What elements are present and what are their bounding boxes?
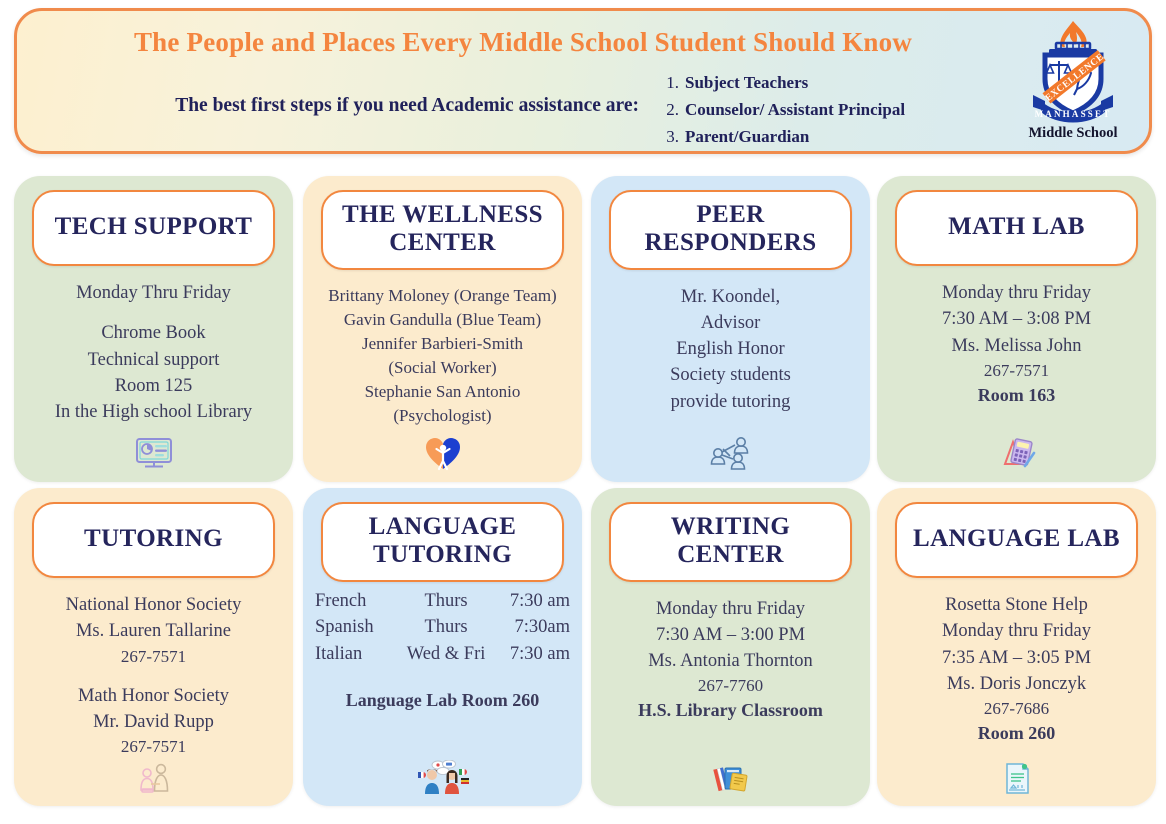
card-tutoring[interactable]: TUTORING National Honor Society Ms. Laur… — [14, 488, 293, 806]
card-footer: Language Lab Room 260 — [313, 688, 572, 714]
card-line: Monday thru Friday — [601, 596, 860, 622]
card-line: 267-7686 — [887, 697, 1146, 721]
svg-text:MANHASSET: MANHASSET — [1035, 109, 1112, 119]
header-lead-text: The best first steps if you need Academi… — [69, 95, 639, 117]
card-line: Brittany Moloney (Orange Team) — [313, 284, 572, 308]
lang-day: Wed & Fri — [400, 641, 491, 668]
page-title: The People and Places Every Middle Schoo… — [17, 27, 1149, 58]
speaking-people-icon — [303, 760, 582, 798]
card-line: National Honor Society — [24, 592, 283, 618]
card-title: THE WELLNESS CENTER — [321, 190, 564, 270]
card-line: Advisor — [601, 310, 860, 336]
card-body: National Honor Society Ms. Lauren Tallar… — [24, 592, 283, 759]
card-language-tutoring[interactable]: LANGUAGE TUTORING French Thurs 7:30 am S… — [303, 488, 582, 806]
step-number: 2. — [657, 100, 679, 120]
tutor-pair-icon — [14, 760, 293, 798]
card-line: Chrome Book — [24, 320, 283, 346]
card-body: Monday thru Friday 7:30 AM – 3:08 PM Ms.… — [887, 280, 1146, 408]
card-body: Monday thru Friday 7:30 AM – 3:00 PM Ms.… — [601, 596, 860, 724]
card-line: Technical support — [24, 347, 283, 373]
language-schedule-table: French Thurs 7:30 am Spanish Thurs 7:30a… — [313, 588, 572, 668]
monitor-chart-icon — [14, 436, 293, 474]
manhasset-shield-icon: EXCELLENCE MANHASSET — [1021, 17, 1125, 129]
card-line: Society students — [601, 362, 860, 388]
lang-time: 7:30 am — [492, 641, 572, 668]
card-title: PEER RESPONDERS — [609, 190, 852, 270]
card-math-lab[interactable]: MATH LAB Monday thru Friday 7:30 AM – 3:… — [877, 176, 1156, 482]
header-banner: The People and Places Every Middle Schoo… — [14, 8, 1152, 154]
card-language-lab[interactable]: LANGUAGE LAB Rosetta Stone Help Monday t… — [877, 488, 1156, 806]
card-room-label: H.S. Library Classroom — [601, 698, 860, 724]
poster-page: The People and Places Every Middle Schoo… — [0, 0, 1166, 824]
header-step-item: 2.Counselor/ Assistant Principal — [657, 100, 987, 120]
books-icon — [591, 760, 870, 798]
step-number: 1. — [657, 73, 679, 93]
card-line: (Social Worker) — [313, 356, 572, 380]
card-line: Stephanie San Antonio — [313, 380, 572, 404]
card-writing-center[interactable]: WRITING CENTER Monday thru Friday 7:30 A… — [591, 488, 870, 806]
card-title: MATH LAB — [895, 190, 1138, 266]
table-row: French Thurs 7:30 am — [313, 588, 572, 615]
lang-time: 7:30 am — [492, 588, 572, 615]
card-line: Monday Thru Friday — [24, 280, 283, 306]
card-wellness-center[interactable]: THE WELLNESS CENTER Brittany Moloney (Or… — [303, 176, 582, 482]
card-line: provide tutoring — [601, 389, 860, 415]
card-line: Ms. Lauren Tallarine — [24, 618, 283, 644]
lang-time: 7:30am — [492, 614, 572, 641]
card-line: 267-7571 — [887, 359, 1146, 383]
people-network-icon — [591, 436, 870, 474]
card-room-label: Room 163 — [887, 383, 1146, 409]
card-line: In the High school Library — [24, 399, 283, 425]
card-line: Room 125 — [24, 373, 283, 399]
step-number: 3. — [657, 127, 679, 147]
card-line: 267-7571 — [24, 645, 283, 669]
card-title: LANGUAGE LAB — [895, 502, 1138, 578]
card-peer-responders[interactable]: PEER RESPONDERS Mr. Koondel, Advisor Eng… — [591, 176, 870, 482]
heart-person-icon — [303, 436, 582, 474]
card-line: 7:30 AM – 3:08 PM — [887, 306, 1146, 332]
lang-day: Thurs — [400, 614, 491, 641]
header-steps-list: 1.Subject Teachers 2.Counselor/ Assistan… — [657, 73, 987, 154]
step-label: Counselor/ Assistant Principal — [685, 100, 905, 119]
calculator-ruler-icon — [877, 436, 1156, 474]
card-room-label: Language Lab Room 260 — [313, 688, 572, 714]
card-line: Math Honor Society — [24, 683, 283, 709]
services-row-2: TUTORING National Honor Society Ms. Laur… — [0, 480, 1166, 804]
table-row: Spanish Thurs 7:30am — [313, 614, 572, 641]
card-body: Mr. Koondel, Advisor English Honor Socie… — [601, 284, 860, 415]
school-crest-logo: EXCELLENCE MANHASSET Middle School — [1019, 17, 1127, 151]
services-row-1: TECH SUPPORT Monday Thru Friday Chrome B… — [0, 168, 1166, 480]
card-line: Mr. Koondel, — [601, 284, 860, 310]
card-tech-support[interactable]: TECH SUPPORT Monday Thru Friday Chrome B… — [14, 176, 293, 482]
card-line: 267-7571 — [24, 735, 283, 759]
document-checklist-icon — [877, 760, 1156, 798]
card-line: English Honor — [601, 336, 860, 362]
card-title: LANGUAGE TUTORING — [321, 502, 564, 582]
card-line: 7:30 AM – 3:00 PM — [601, 622, 860, 648]
header-step-item: 1.Subject Teachers — [657, 73, 987, 93]
card-line: Mr. David Rupp — [24, 709, 283, 735]
card-line: Gavin Gandulla (Blue Team) — [313, 308, 572, 332]
step-label: Parent/Guardian — [685, 127, 809, 146]
card-line: Rosetta Stone Help — [887, 592, 1146, 618]
card-body: Brittany Moloney (Orange Team) Gavin Gan… — [313, 284, 572, 429]
step-label: Subject Teachers — [685, 73, 808, 92]
lang-day: Thurs — [400, 588, 491, 615]
card-title: WRITING CENTER — [609, 502, 852, 582]
card-body: Rosetta Stone Help Monday thru Friday 7:… — [887, 592, 1146, 747]
lang-name: Italian — [313, 641, 400, 668]
card-room-label: Room 260 — [887, 721, 1146, 747]
card-line: Ms. Melissa John — [887, 333, 1146, 359]
card-line: Ms. Antonia Thornton — [601, 648, 860, 674]
card-title: TUTORING — [32, 502, 275, 578]
crest-label: Middle School — [1019, 125, 1127, 142]
services-grid: TECH SUPPORT Monday Thru Friday Chrome B… — [0, 168, 1166, 804]
lang-name: Spanish — [313, 614, 400, 641]
card-line: Monday thru Friday — [887, 618, 1146, 644]
card-line: Ms. Doris Jonczyk — [887, 671, 1146, 697]
lang-name: French — [313, 588, 400, 615]
card-line: Monday thru Friday — [887, 280, 1146, 306]
card-title: TECH SUPPORT — [32, 190, 275, 266]
header-step-item: 3.Parent/Guardian — [657, 127, 987, 147]
card-body: Monday Thru Friday Chrome Book Technical… — [24, 280, 283, 425]
card-line: (Psychologist) — [313, 404, 572, 428]
table-row: Italian Wed & Fri 7:30 am — [313, 641, 572, 668]
card-line: Jennifer Barbieri-Smith — [313, 332, 572, 356]
card-line: 267-7760 — [601, 674, 860, 698]
card-line: 7:35 AM – 3:05 PM — [887, 645, 1146, 671]
